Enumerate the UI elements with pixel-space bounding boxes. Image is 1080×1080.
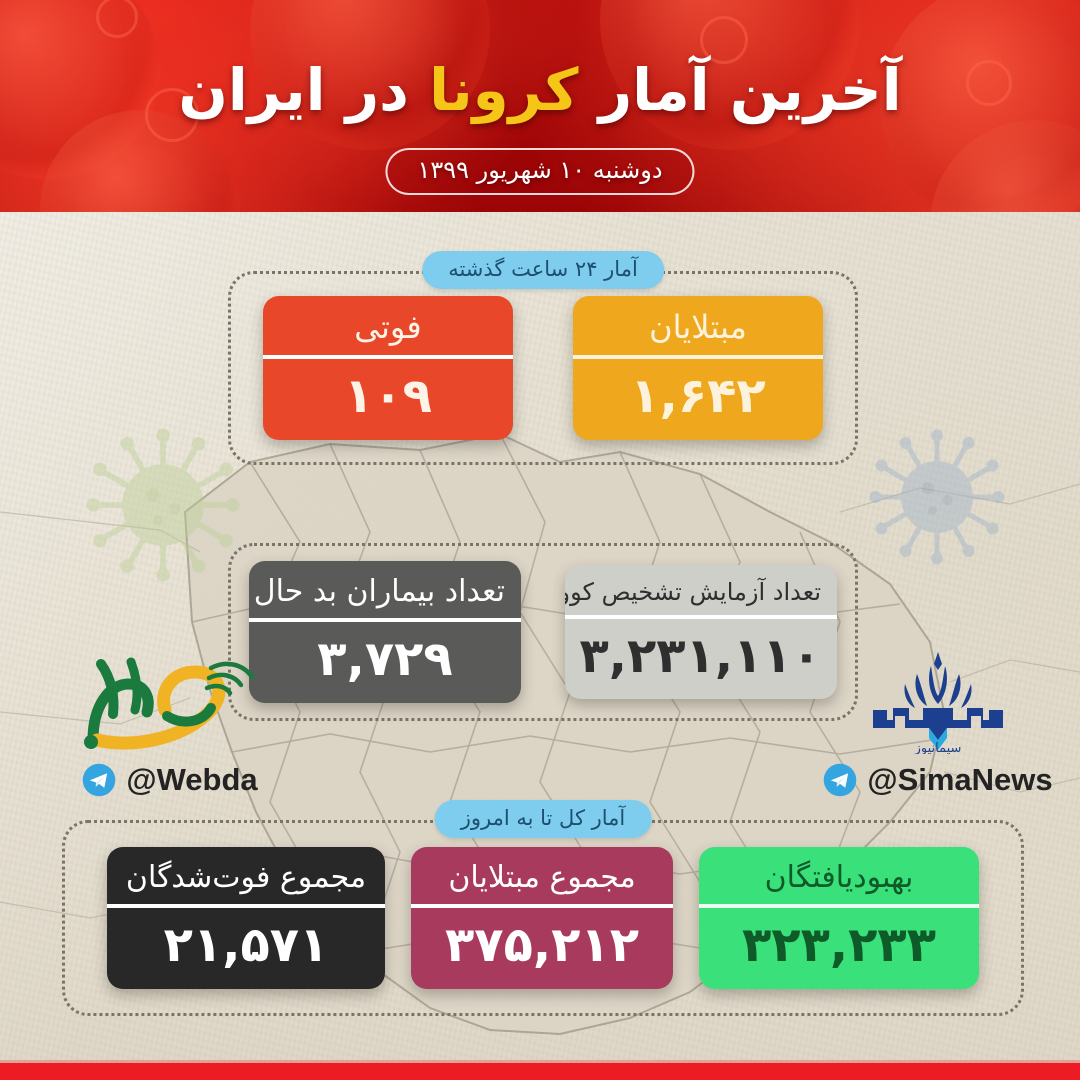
green-virus-icon xyxy=(78,420,248,590)
date-badge: دوشنبه ۱۰ شهریور ۱۳۹۹ xyxy=(385,148,694,195)
stat-card-critical-patients[interactable]: تعداد بیماران بد حال ۳,۷۲۹ xyxy=(249,561,521,702)
telegram-icon xyxy=(823,763,857,797)
simanews-logo-icon: سیمانیوز xyxy=(843,644,1033,754)
stat-card-covid-tests[interactable]: تعداد آزمایش تشخیص کووید۱۹ ۳,۲۳۱,۱۱۰ xyxy=(565,565,837,700)
stat-card-total-deaths[interactable]: مجموع فوت‌شدگان ۲۱,۵۷۱ xyxy=(107,847,385,988)
webda-handle: @Webda xyxy=(126,762,257,798)
blue-virus-icon xyxy=(862,422,1012,572)
title-text-before: آخرین آمار xyxy=(579,56,902,124)
header-banner: آخرین آمار کرونا در ایران دوشنبه ۱۰ شهری… xyxy=(0,0,1080,212)
title-text-highlight: کرونا xyxy=(429,56,578,124)
page-title: آخرین آمار کرونا در ایران xyxy=(0,58,1080,123)
stat-value: ۳,۲۳۱,۱۱۰ xyxy=(565,619,837,699)
cards-row-totals: مجموع فوت‌شدگان ۲۱,۵۷۱ مجموع مبتلایان ۳۷… xyxy=(65,823,1021,1013)
stat-label: مجموع مبتلایان xyxy=(411,847,673,904)
simanews-handle: @SimaNews xyxy=(867,762,1052,798)
stat-label: تعداد آزمایش تشخیص کووید۱۹ xyxy=(565,565,837,615)
webda-logo-icon xyxy=(75,644,265,754)
stat-label: تعداد بیماران بد حال xyxy=(249,561,521,618)
logo-webda[interactable]: @Webda xyxy=(62,644,278,798)
stat-label: مجموع فوت‌شدگان xyxy=(107,847,385,904)
panel-last-24h: آمار ۲۴ ساعت گذشته فوتی ۱۰۹ مبتلایان ۱,۶… xyxy=(228,271,858,465)
stat-card-total-cases[interactable]: مجموع مبتلایان ۳۷۵,۲۱۲ xyxy=(411,847,673,988)
stat-value: ۱,۶۴۲ xyxy=(573,359,823,439)
infographic-canvas: آخرین آمار کرونا در ایران دوشنبه ۱۰ شهری… xyxy=(0,0,1080,1080)
stat-card-recovered[interactable]: بهبودیافتگان ۳۲۳,۲۳۳ xyxy=(699,847,979,988)
panel-current-status: تعداد بیماران بد حال ۳,۷۲۹ تعداد آزمایش … xyxy=(228,543,858,721)
stat-label: فوتی xyxy=(263,296,513,355)
webda-handle-row[interactable]: @Webda xyxy=(62,762,278,798)
logo-simanews[interactable]: سیمانیوز @SimaNews xyxy=(830,644,1046,798)
stat-label: مبتلایان xyxy=(573,296,823,355)
cards-row-current-status: تعداد بیماران بد حال ۳,۷۲۹ تعداد آزمایش … xyxy=(231,546,855,718)
content-area: آمار ۲۴ ساعت گذشته فوتی ۱۰۹ مبتلایان ۱,۶… xyxy=(0,212,1080,1063)
stat-value: ۳۲۳,۲۳۳ xyxy=(699,908,979,988)
telegram-icon xyxy=(82,763,116,797)
stat-value: ۱۰۹ xyxy=(263,359,513,439)
title-text-after: در ایران xyxy=(178,56,429,124)
stat-label: بهبودیافتگان xyxy=(699,847,979,904)
panel-totals: آمار کل تا به امروز مجموع فوت‌شدگان ۲۱,۵… xyxy=(62,820,1024,1016)
stat-value: ۳,۷۲۹ xyxy=(249,622,521,702)
stat-card-deaths-daily[interactable]: فوتی ۱۰۹ xyxy=(263,296,513,440)
svg-text:سیمانیوز: سیمانیوز xyxy=(914,741,962,754)
footer-bar xyxy=(0,1063,1080,1080)
stat-card-cases-daily[interactable]: مبتلایان ۱,۶۴۲ xyxy=(573,296,823,440)
cards-row-last-24h: فوتی ۱۰۹ مبتلایان ۱,۶۴۲ xyxy=(231,274,855,462)
simanews-handle-row[interactable]: @SimaNews xyxy=(830,762,1046,798)
stat-value: ۳۷۵,۲۱۲ xyxy=(411,908,673,988)
stat-value: ۲۱,۵۷۱ xyxy=(107,908,385,988)
